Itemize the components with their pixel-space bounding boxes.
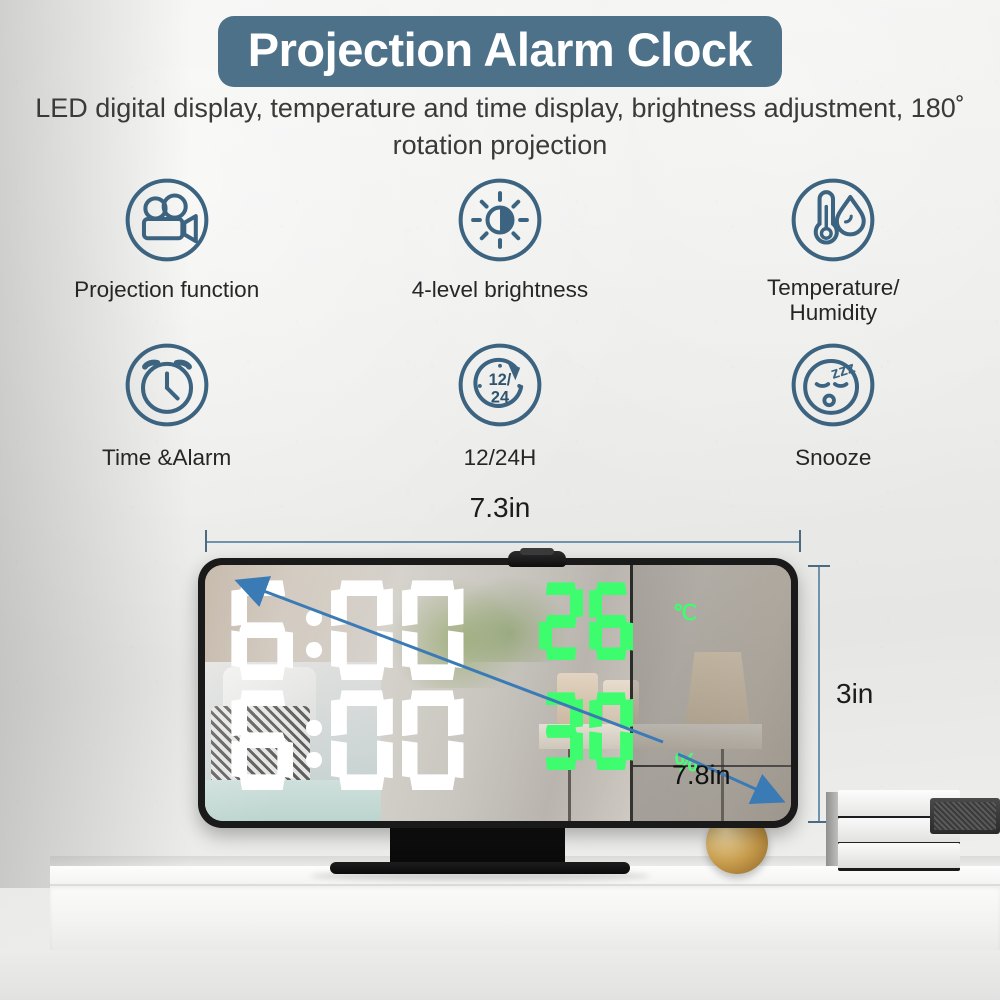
- feature-label: 4-level brightness: [412, 277, 588, 302]
- dark-speaker-object: [930, 798, 1000, 834]
- feature-label: Projection function: [74, 277, 259, 302]
- feature-label: 12/24H: [464, 445, 537, 470]
- height-dimension-label: 3in: [836, 678, 873, 710]
- feature-row-1: Projection function: [0, 172, 1000, 325]
- height-dimension-cap-top: [808, 565, 830, 567]
- feature-projection: Projection function: [0, 172, 333, 325]
- feature-time-alarm: Time &Alarm: [0, 337, 333, 470]
- title-banner-wrap: Projection Alarm Clock: [0, 16, 1000, 87]
- feature-brightness: 4-level brightness: [333, 172, 666, 325]
- page-title: Projection Alarm Clock: [218, 16, 782, 87]
- book: [838, 843, 960, 871]
- feature-label: Snooze: [795, 445, 871, 470]
- width-dimension-label: 7.3in: [0, 492, 1000, 524]
- projector-lens-cap: [520, 548, 554, 555]
- thermometer-humidity-icon: [785, 172, 881, 268]
- depth-dimension-label: 7.8in: [672, 760, 731, 791]
- width-dimension-line: [205, 541, 800, 543]
- video-projector-icon: [119, 172, 215, 268]
- clock-stand-base: [330, 862, 630, 874]
- feature-grid: Projection function: [0, 172, 1000, 471]
- shelf-lower-surface: [0, 950, 1000, 1000]
- feature-temperature-humidity: Temperature/ Humidity: [667, 172, 1000, 325]
- feature-label-line2: Humidity: [789, 300, 877, 325]
- shelf-front: [50, 886, 1000, 956]
- alarm-clock-icon: [119, 337, 215, 433]
- product-infographic: Projection Alarm Clock LED digital displ…: [0, 0, 1000, 1000]
- svg-text:12/: 12/: [489, 371, 512, 389]
- feature-12-24h: 12/ 24 12/24H: [333, 337, 666, 470]
- page-subtitle: LED digital display, temperature and tim…: [0, 90, 1000, 165]
- width-dimension-cap-right: [799, 530, 801, 552]
- feature-label: Temperature/ Humidity: [767, 275, 900, 325]
- sun-brightness-icon: [452, 172, 548, 268]
- width-dimension-cap-left: [205, 530, 207, 552]
- feature-label: Time &Alarm: [102, 445, 231, 470]
- twelve-twentyfour-hour-icon: 12/ 24: [452, 337, 548, 433]
- height-dimension-line: [818, 566, 820, 822]
- feature-label-line1: Temperature/: [767, 275, 900, 300]
- sleeping-face-snooze-icon: zzz: [785, 337, 881, 433]
- feature-snooze: zzz Snooze: [667, 337, 1000, 470]
- feature-row-2: Time &Alarm 12/: [0, 337, 1000, 470]
- svg-text:24: 24: [491, 389, 509, 407]
